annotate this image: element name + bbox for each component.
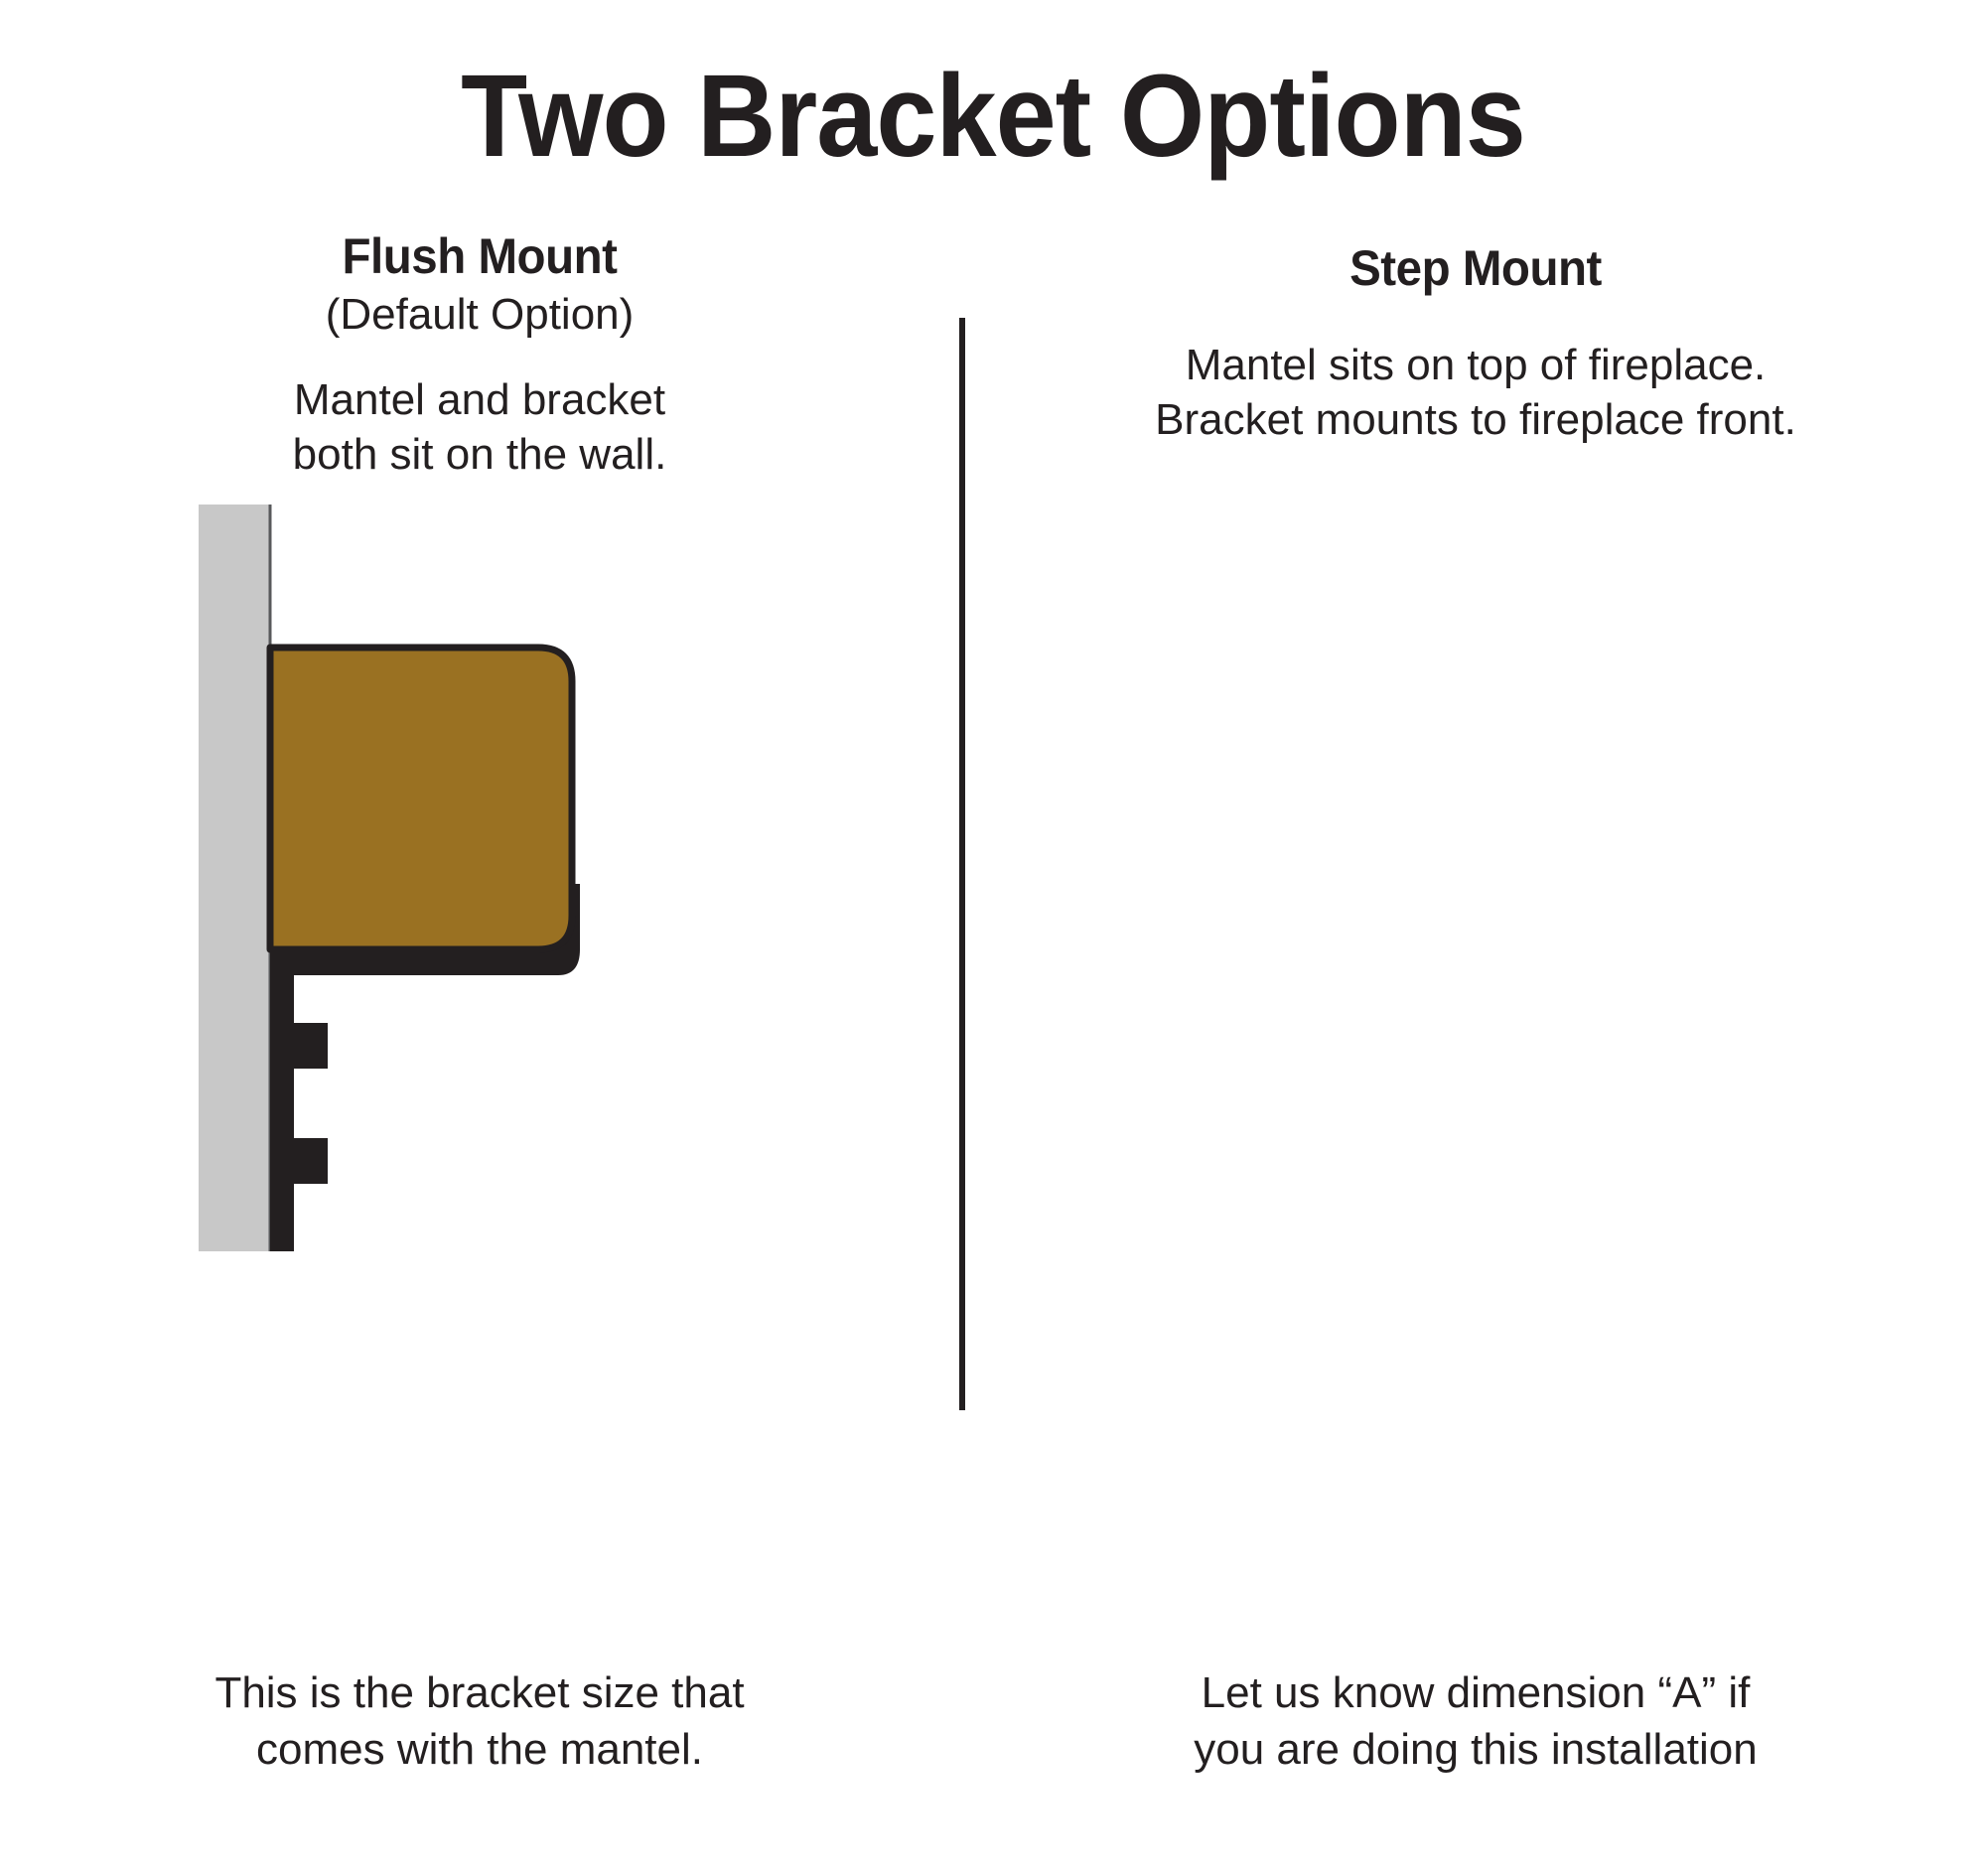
wall-shape (199, 505, 270, 1251)
bracket-screw-tab (294, 1023, 328, 1069)
step-mount-diagram: A (1918, 477, 1986, 1271)
step-mount-description: Mantel sits on top of fireplace. Bracket… (965, 338, 1986, 447)
step-mount-column: Step Mount Mantel sits on top of firepla… (965, 0, 1986, 1876)
flush-mount-heading: Flush Mount (24, 230, 935, 283)
step-mount-footer: Let us know dimension “A” if you are doi… (965, 1664, 1986, 1778)
flush-mount-footer: This is the bracket size that comes with… (0, 1664, 959, 1778)
page-root: Two Bracket Options Flush Mount (Default… (0, 0, 1986, 1876)
flush-mount-diagram (109, 487, 665, 1261)
step-mount-heading: Step Mount (991, 242, 1961, 295)
mantel-shape (270, 648, 572, 949)
bracket-screw-tab (294, 1138, 328, 1184)
flush-mount-description: Mantel and bracket both sit on the wall. (0, 372, 959, 482)
flush-mount-subheading: (Default Option) (0, 290, 959, 339)
flush-mount-column: Flush Mount (Default Option) Mantel and … (0, 0, 959, 1876)
